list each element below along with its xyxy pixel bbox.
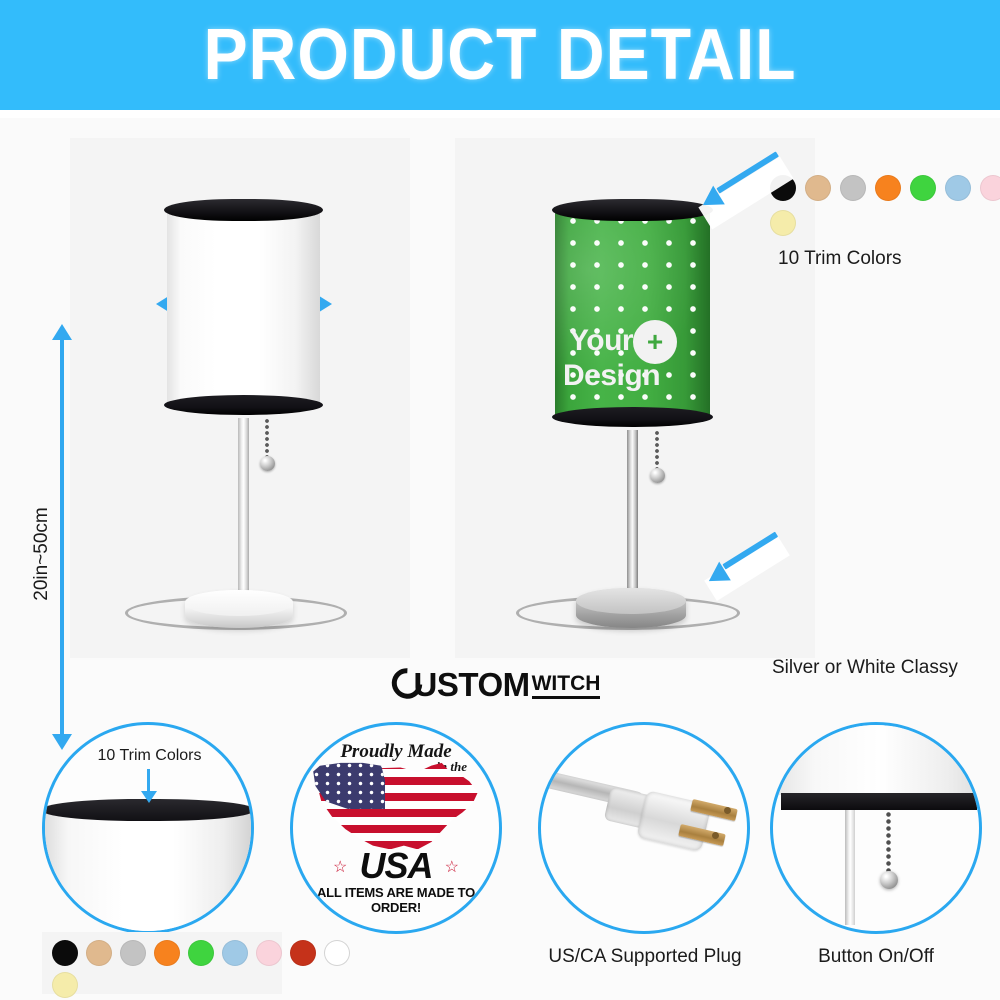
right-lamp-pull-chain — [655, 430, 659, 472]
left-lamp-base — [185, 590, 293, 628]
button-feature-shade — [773, 722, 982, 795]
right-lamp-base — [576, 588, 686, 628]
trim-swatch-gray[interactable] — [840, 175, 866, 201]
right-lamp-shade-surface: Your + Design — [555, 206, 710, 418]
plug-prong-hole-upper — [724, 807, 731, 814]
left-lamp-shade — [167, 206, 320, 406]
button-feature-circle — [770, 722, 982, 934]
plus-icon: + — [633, 320, 677, 364]
design-text-your: Your — [569, 326, 633, 356]
trim-swatch-green[interactable] — [188, 940, 214, 966]
trim-feature-arrow-head-icon — [141, 791, 157, 803]
trim-swatch-row-primary — [770, 175, 1000, 201]
left-lamp-base-top — [185, 590, 293, 616]
right-lamp-trim-top — [552, 199, 713, 221]
trim-swatch-yellow[interactable] — [770, 210, 796, 236]
usa-proudly-made-text: Proudly Made — [293, 741, 499, 763]
trim-feature-label: 10 Trim Colors — [67, 747, 232, 765]
trim-swatch-light-blue[interactable] — [222, 940, 248, 966]
button-feature-pull-chain — [886, 811, 891, 873]
right-lamp-shade: Your + Design — [555, 206, 710, 418]
trim-swatch-light-blue[interactable] — [945, 175, 971, 201]
plug-feature-circle — [538, 722, 750, 934]
button-feature-pole — [845, 810, 855, 925]
button-feature-chain-ball — [880, 871, 898, 889]
plug-body — [636, 790, 711, 852]
trim-swatch-yellow[interactable] — [52, 972, 78, 998]
usa-feature-circle: Proudly Made in the ☆ USA ☆ ALL ITEMS AR… — [290, 722, 502, 934]
bottom-trim-swatch-row-secondary — [52, 972, 78, 998]
left-lamp-pole — [238, 418, 249, 618]
header-divider — [0, 110, 1000, 118]
trim-feature-shade — [43, 811, 253, 934]
usa-star-right-icon: ☆ — [445, 857, 459, 877]
left-lamp-trim-top — [164, 199, 323, 221]
right-lamp-trim-bottom — [552, 407, 713, 427]
page-title: PRODUCT DETAIL — [40, 0, 960, 110]
trim-swatch-pink[interactable] — [980, 175, 1000, 201]
usa-word-text: USA — [293, 845, 499, 887]
button-feature-caption: Button On/Off — [776, 946, 976, 968]
main-showcase-panel: 7in~18cm 20in~50cm — [0, 118, 1000, 660]
brand-name-primary: USTOM — [414, 668, 530, 701]
plug-prong-hole-lower — [712, 832, 719, 839]
left-lamp-pull-chain — [265, 418, 269, 460]
trim-swatch-orange[interactable] — [154, 940, 180, 966]
right-lamp-base-top — [576, 588, 686, 614]
button-feature-black-trim — [781, 793, 977, 810]
usa-made-to-order-text: ALL ITEMS ARE MADE TO ORDER! — [293, 885, 499, 915]
trim-swatch-row-secondary — [770, 210, 796, 236]
trim-swatch-white[interactable] — [324, 940, 350, 966]
plug-feature-caption: US/CA Supported Plug — [500, 946, 790, 968]
trim-colors-label: 10 Trim Colors — [778, 248, 902, 270]
trim-swatch-green[interactable] — [910, 175, 936, 201]
left-lamp-chain-ball — [260, 456, 275, 471]
trim-feature-circle: 10 Trim Colors — [42, 722, 254, 934]
trim-swatch-red[interactable] — [290, 940, 316, 966]
left-lamp-trim-bottom — [164, 395, 323, 415]
right-lamp-chain-ball — [650, 468, 665, 483]
trim-swatch-pink[interactable] — [256, 940, 282, 966]
height-arrow-up-icon — [52, 324, 72, 340]
trim-swatch-gray[interactable] — [120, 940, 146, 966]
brand-name-secondary-wrap: WITCH — [532, 673, 601, 699]
brand-underline — [532, 696, 601, 699]
trim-swatch-orange[interactable] — [875, 175, 901, 201]
brand-logo: USTOM WITCH — [0, 660, 1000, 708]
trim-swatch-tan[interactable] — [805, 175, 831, 201]
design-text-design: Design — [563, 361, 660, 391]
trim-swatch-black[interactable] — [52, 940, 78, 966]
custom-design-artwork: Your + Design — [563, 326, 703, 402]
left-lamp-shade-surface — [167, 206, 320, 406]
bottom-trim-swatch-row-primary — [52, 940, 350, 966]
product-detail-page: PRODUCT DETAIL 7in~18cm 20in~50cm — [0, 0, 1000, 1000]
height-dimension-label: 20in~50cm — [31, 479, 53, 629]
trim-swatch-tan[interactable] — [86, 940, 112, 966]
brand-name-secondary: WITCH — [532, 673, 601, 694]
